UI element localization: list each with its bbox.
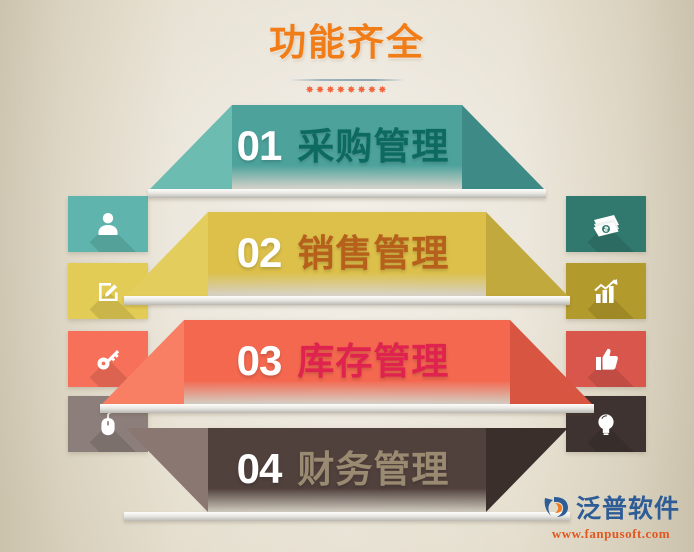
band-ledge	[100, 404, 594, 413]
edit-note-icon	[93, 276, 123, 306]
infographic-canvas: 功能齐全 ✸✸✸✸✸✸✸✸ 01采购管理02销售管理03库存管理04财务管理 泛…	[0, 0, 694, 552]
band-03[interactable]: 03库存管理	[184, 320, 510, 404]
money-icon	[591, 209, 621, 239]
fanpu-swoosh-icon	[542, 494, 572, 521]
band-face: 01采购管理	[232, 105, 462, 189]
band-number: 03	[237, 340, 282, 382]
thumbs-up-icon	[591, 344, 621, 374]
band-label: 财务管理	[297, 451, 449, 488]
band-label: 采购管理	[297, 128, 449, 165]
brand-logo[interactable]: 泛普软件 www.fanpusoft.com	[542, 489, 680, 542]
icon-tab-user[interactable]	[68, 196, 148, 252]
title-divider	[289, 79, 405, 81]
bar-chart-icon	[591, 276, 621, 306]
icon-tab-thumbs-up[interactable]	[566, 331, 646, 387]
icon-tab-money[interactable]	[566, 196, 646, 252]
header: 功能齐全 ✸✸✸✸✸✸✸✸	[0, 0, 694, 96]
page-title: 功能齐全	[0, 0, 694, 61]
band-right-bevel	[486, 212, 568, 296]
brand-name: 泛普软件	[576, 489, 680, 525]
band-01[interactable]: 01采购管理	[232, 105, 462, 189]
icon-tab-bar-chart[interactable]	[566, 263, 646, 319]
band-number: 01	[237, 125, 282, 167]
band-left-bevel	[150, 105, 232, 189]
key-icon	[93, 344, 123, 374]
band-02[interactable]: 02销售管理	[208, 212, 486, 296]
band-label: 库存管理	[297, 343, 449, 380]
band-right-bevel	[462, 105, 544, 189]
lightbulb-icon	[591, 409, 621, 439]
band-face: 02销售管理	[208, 212, 486, 296]
band-ledge	[124, 512, 570, 521]
brand-url: www.fanpusoft.com	[542, 526, 680, 542]
band-number: 02	[237, 232, 282, 274]
band-face: 03库存管理	[184, 320, 510, 404]
band-label: 销售管理	[297, 235, 449, 272]
band-face: 04财务管理	[208, 428, 486, 512]
band-04[interactable]: 04财务管理	[208, 428, 486, 512]
star-row: ✸✸✸✸✸✸✸✸	[0, 86, 694, 96]
band-ledge	[148, 189, 546, 198]
user-icon	[93, 209, 123, 239]
band-ledge	[124, 296, 570, 305]
mouse-icon	[93, 409, 123, 439]
band-number: 04	[237, 448, 282, 490]
